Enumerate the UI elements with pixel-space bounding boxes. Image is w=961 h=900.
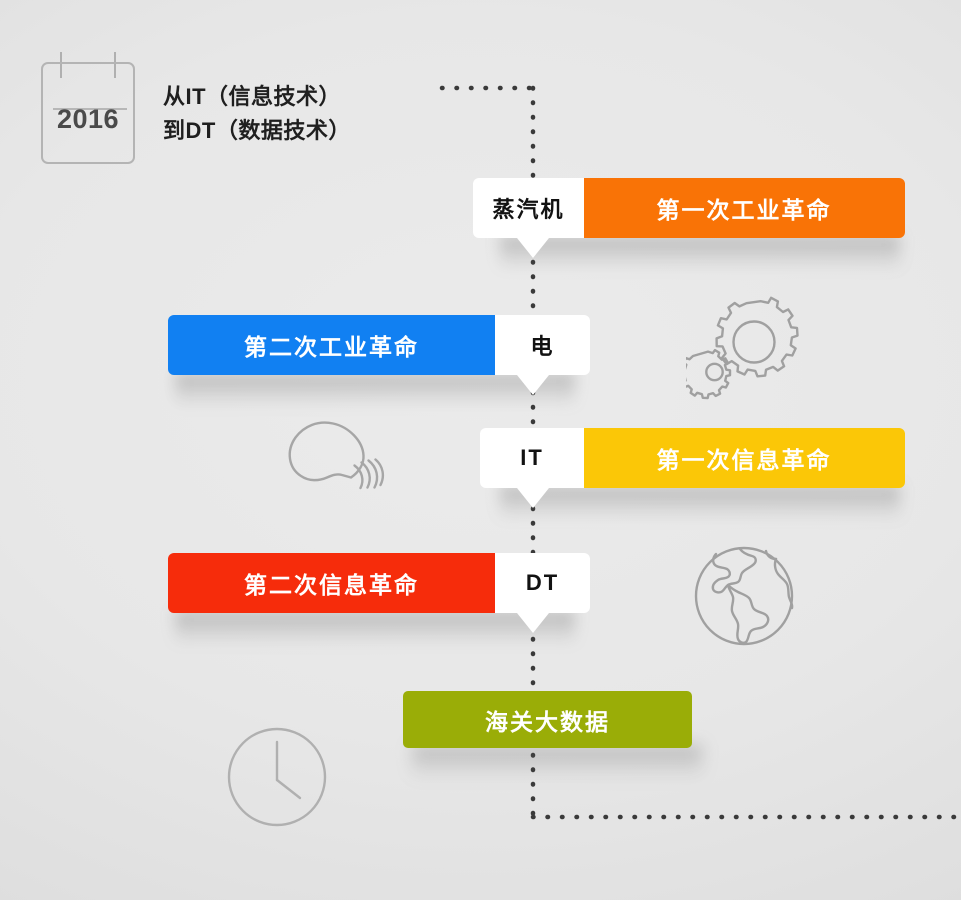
tab-pointer	[517, 488, 549, 508]
bar-label: 第二次工业革命	[168, 328, 495, 362]
bar-first-information-revolution[interactable]: 第一次信息革命	[583, 428, 905, 488]
tab-label: DT	[526, 570, 559, 596]
bar-label: 第一次信息革命	[583, 441, 905, 475]
tab-it[interactable]: IT	[480, 428, 584, 488]
calendar-year-label: 2016	[41, 104, 135, 135]
tab-steam-engine[interactable]: 蒸汽机	[473, 178, 584, 238]
row-shadow	[500, 486, 900, 520]
infographic-stage: 2016 从IT（信息技术） 到DT（数据技术）	[0, 0, 961, 900]
page-title: 从IT（信息技术） 到DT（数据技术）	[163, 80, 463, 148]
tab-electricity[interactable]: 电	[495, 315, 590, 375]
timeline-row: 第一次信息革命 IT	[0, 428, 961, 488]
calendar-icon: 2016	[41, 52, 135, 164]
bar-second-industrial-revolution[interactable]: 第二次工业革命	[168, 315, 495, 375]
clock-icon	[222, 722, 332, 832]
bar-second-information-revolution[interactable]: 第二次信息革命	[168, 553, 495, 613]
tab-pointer	[517, 238, 549, 258]
row-shadow	[500, 236, 900, 270]
timeline-row: 第一次工业革命 蒸汽机	[0, 178, 961, 238]
heading-line-2: 到DT（数据技术）	[163, 114, 463, 148]
bar-customs-big-data[interactable]: 海关大数据	[403, 691, 692, 748]
tab-label: 蒸汽机	[492, 192, 564, 224]
row-shadow	[175, 611, 575, 645]
tab-dt[interactable]: DT	[495, 553, 590, 613]
tab-pointer	[517, 375, 549, 395]
bar-label: 海关大数据	[485, 703, 610, 737]
tab-pointer	[517, 613, 549, 633]
heading-line-1: 从IT（信息技术）	[163, 80, 463, 114]
timeline-row: 第二次信息革命 DT	[0, 553, 961, 613]
bar-label: 第一次工业革命	[583, 191, 905, 225]
row-shadow	[175, 373, 575, 407]
bar-label: 第二次信息革命	[168, 566, 495, 600]
bar-first-industrial-revolution[interactable]: 第一次工业革命	[583, 178, 905, 238]
tab-label: IT	[520, 445, 544, 471]
green-bar-shadow	[412, 745, 702, 779]
tab-label: 电	[530, 329, 554, 361]
timeline-row: 第二次工业革命 电	[0, 315, 961, 375]
